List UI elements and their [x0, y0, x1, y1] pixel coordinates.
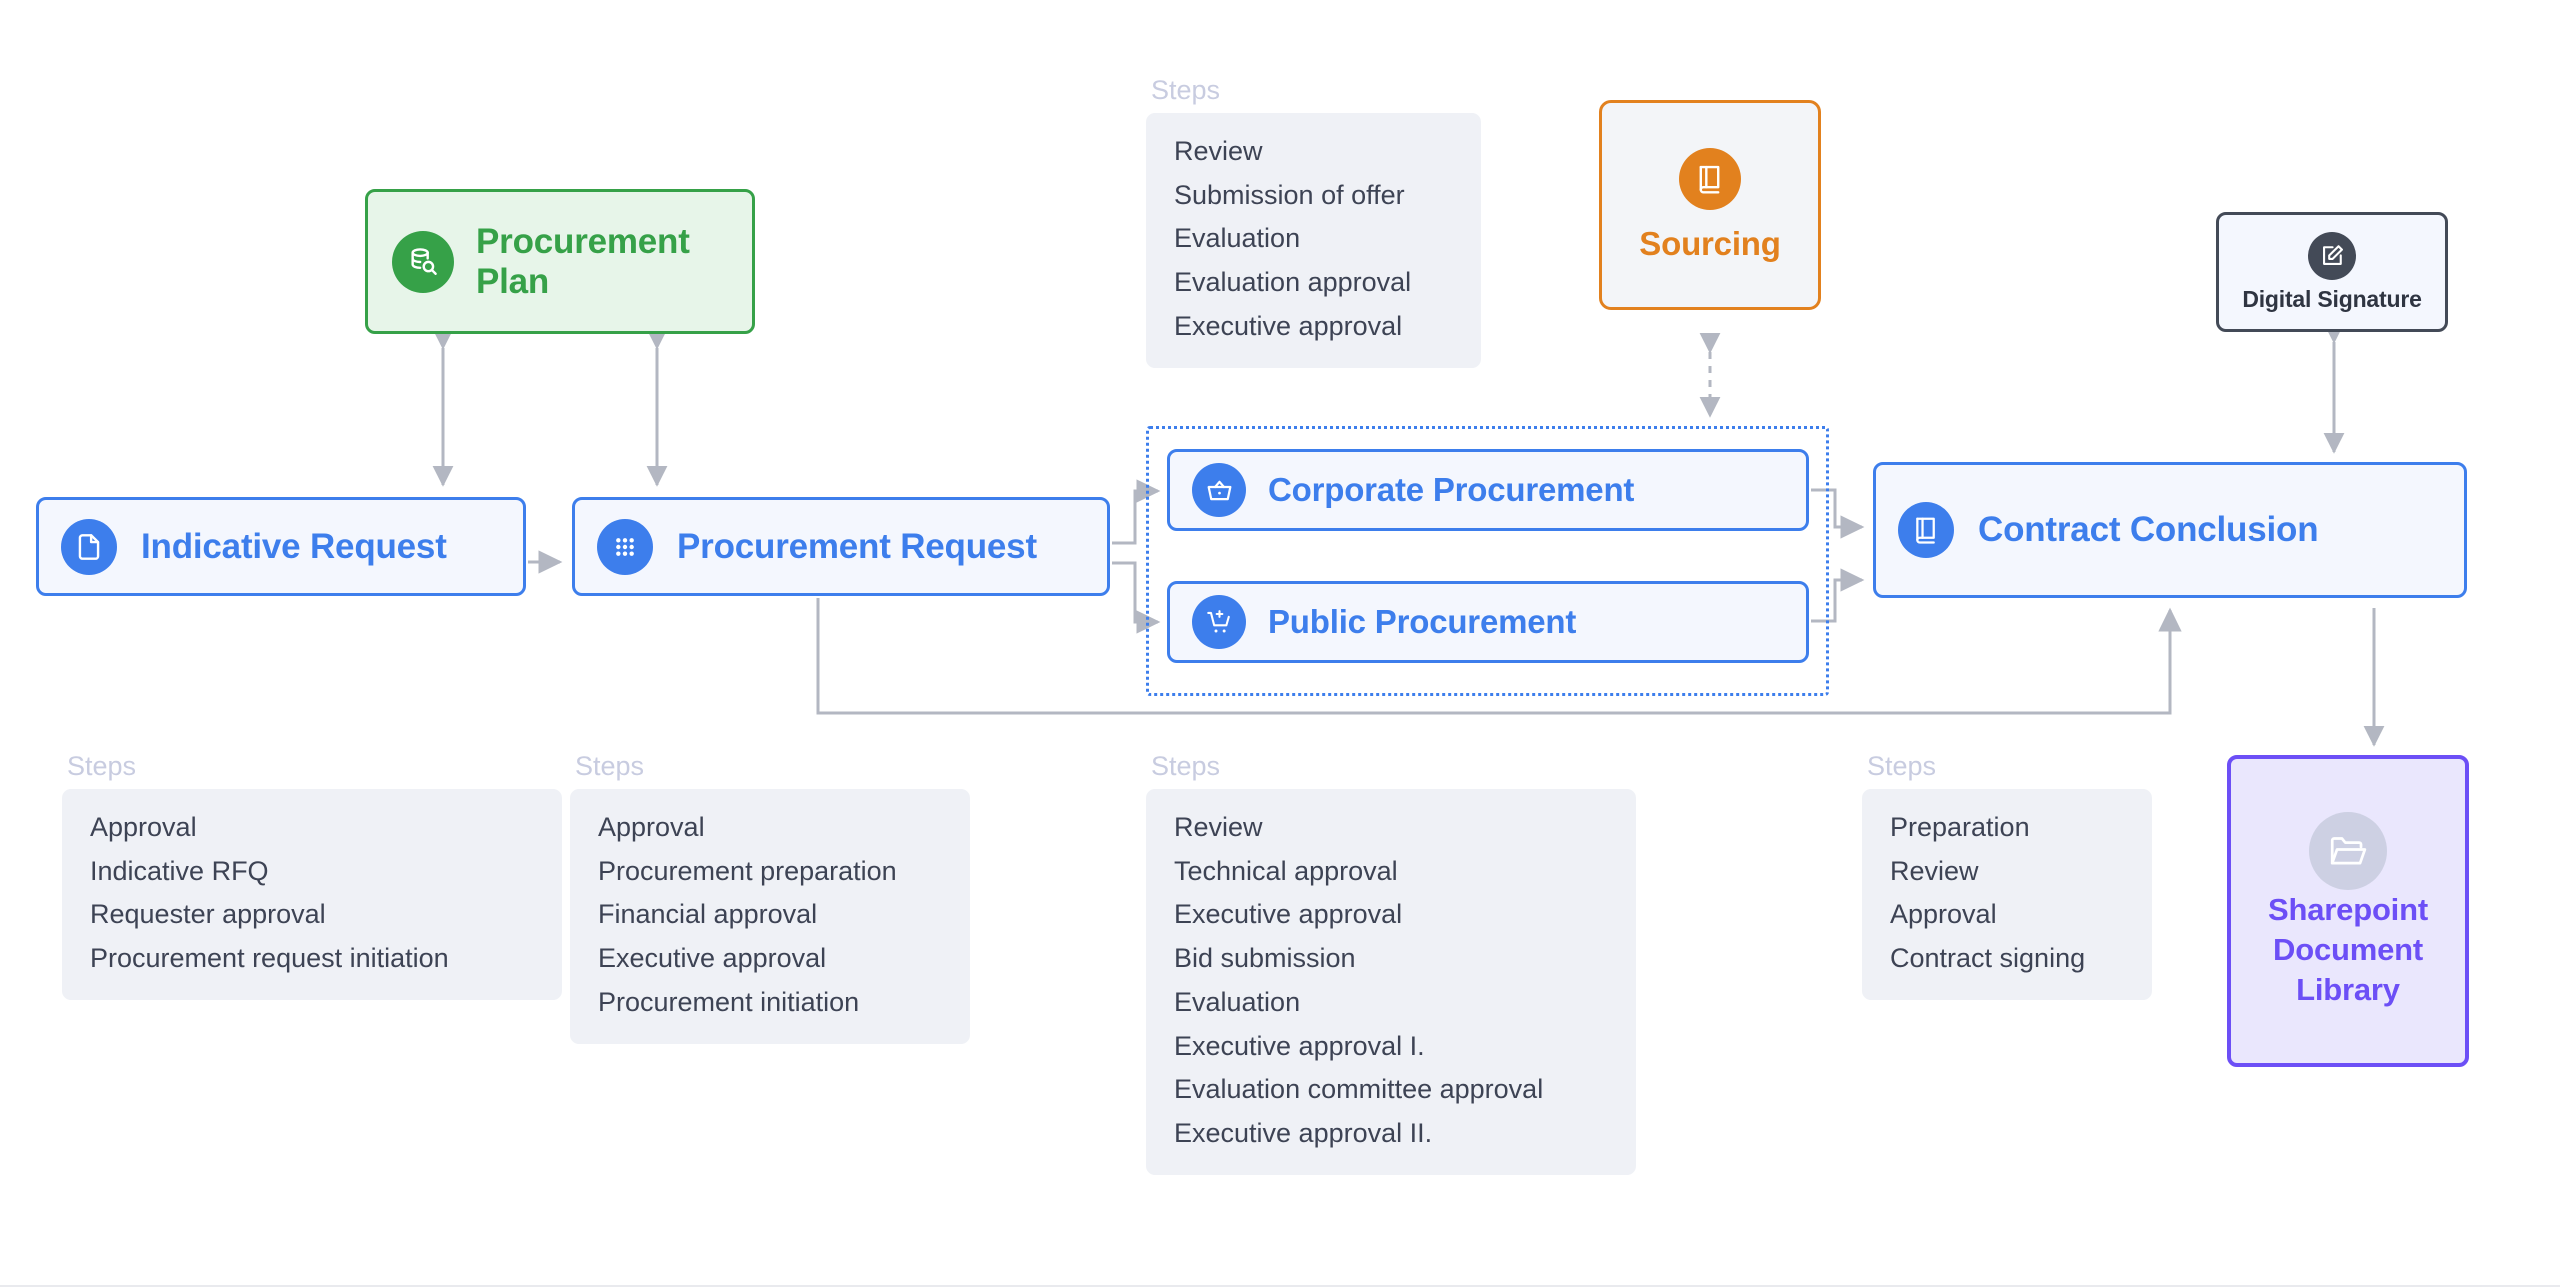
node-contract-conclusion[interactable]: Contract Conclusion: [1873, 462, 2467, 598]
open-folder-icon: [2309, 812, 2387, 890]
steps-panel-title: Steps: [1151, 75, 1481, 106]
cart-plus-icon: [1192, 595, 1246, 649]
basket-icon: [1192, 463, 1246, 517]
book-icon: [1898, 502, 1954, 558]
node-corporate-procurement[interactable]: Corporate Procurement: [1167, 449, 1809, 531]
node-procurement-plan[interactable]: Procurement Plan: [365, 189, 755, 334]
steps-panel-title: Steps: [1151, 751, 1636, 782]
node-public-procurement[interactable]: Public Procurement: [1167, 581, 1809, 663]
steps-panel-procurement-request: Steps Approval Procurement preparation F…: [570, 751, 970, 1044]
book-icon: [1679, 148, 1741, 210]
node-label: Public Procurement: [1268, 604, 1576, 641]
step-item: Executive approval: [1174, 893, 1608, 937]
step-item: Procurement initiation: [598, 981, 942, 1025]
step-item: Approval: [90, 806, 534, 850]
node-sourcing[interactable]: Sourcing: [1599, 100, 1821, 310]
step-item: Procurement preparation: [598, 850, 942, 894]
step-item: Evaluation approval: [1174, 261, 1453, 305]
pencil-square-icon: [2308, 232, 2356, 280]
step-item: Technical approval: [1174, 850, 1608, 894]
step-item: Review: [1890, 850, 2124, 894]
step-item: Bid submission: [1174, 937, 1608, 981]
node-label: Corporate Procurement: [1268, 472, 1634, 509]
step-item: Indicative RFQ: [90, 850, 534, 894]
node-label: Contract Conclusion: [1978, 510, 2318, 549]
node-label: Sourcing: [1639, 226, 1780, 263]
steps-panel-indicative-request: Steps Approval Indicative RFQ Requester …: [62, 751, 562, 1000]
node-label: Procurement Plan: [476, 222, 732, 300]
step-item: Executive approval: [1174, 305, 1453, 349]
step-item: Submission of offer: [1174, 174, 1453, 218]
diagram-canvas: Steps Review Submission of offer Evaluat…: [0, 0, 2560, 1287]
steps-panel-sourcing: Steps Review Submission of offer Evaluat…: [1146, 75, 1481, 368]
node-procurement-request[interactable]: Procurement Request: [572, 497, 1110, 596]
document-icon: [61, 519, 117, 575]
steps-panel-body: Review Technical approval Executive appr…: [1146, 789, 1636, 1175]
step-item: Procurement request initiation: [90, 937, 534, 981]
step-item: Evaluation committee approval: [1174, 1068, 1608, 1112]
steps-panel-title: Steps: [1867, 751, 2152, 782]
step-item: Evaluation: [1174, 217, 1453, 261]
step-item: Executive approval: [598, 937, 942, 981]
steps-panel-public-procurement: Steps Review Technical approval Executiv…: [1146, 751, 1636, 1175]
node-digital-signature[interactable]: Digital Signature: [2216, 212, 2448, 332]
steps-panel-body: Preparation Review Approval Contract sig…: [1862, 789, 2152, 1000]
step-item: Executive approval I.: [1174, 1025, 1608, 1069]
steps-panel-body: Approval Procurement preparation Financi…: [570, 789, 970, 1044]
step-item: Financial approval: [598, 893, 942, 937]
step-item: Evaluation: [1174, 981, 1608, 1025]
node-label: Digital Signature: [2242, 287, 2421, 313]
steps-panel-body: Approval Indicative RFQ Requester approv…: [62, 789, 562, 1000]
step-item: Review: [1174, 806, 1608, 850]
step-item: Preparation: [1890, 806, 2124, 850]
steps-panel-title: Steps: [575, 751, 970, 782]
step-item: Review: [1174, 130, 1453, 174]
node-label: Indicative Request: [141, 527, 447, 566]
step-item: Requester approval: [90, 893, 534, 937]
steps-panel-contract-conclusion: Steps Preparation Review Approval Contra…: [1862, 751, 2152, 1000]
node-label: Sharepoint Document Library: [2231, 890, 2465, 1009]
step-item: Executive approval II.: [1174, 1112, 1608, 1156]
steps-panel-body: Review Submission of offer Evaluation Ev…: [1146, 113, 1481, 368]
database-search-icon: [392, 231, 454, 293]
grid-dots-icon: [597, 519, 653, 575]
node-label: Procurement Request: [677, 527, 1037, 566]
step-item: Contract signing: [1890, 937, 2124, 981]
node-sharepoint-document-library[interactable]: Sharepoint Document Library: [2227, 755, 2469, 1067]
step-item: Approval: [1890, 893, 2124, 937]
step-item: Approval: [598, 806, 942, 850]
steps-panel-title: Steps: [67, 751, 562, 782]
node-indicative-request[interactable]: Indicative Request: [36, 497, 526, 596]
